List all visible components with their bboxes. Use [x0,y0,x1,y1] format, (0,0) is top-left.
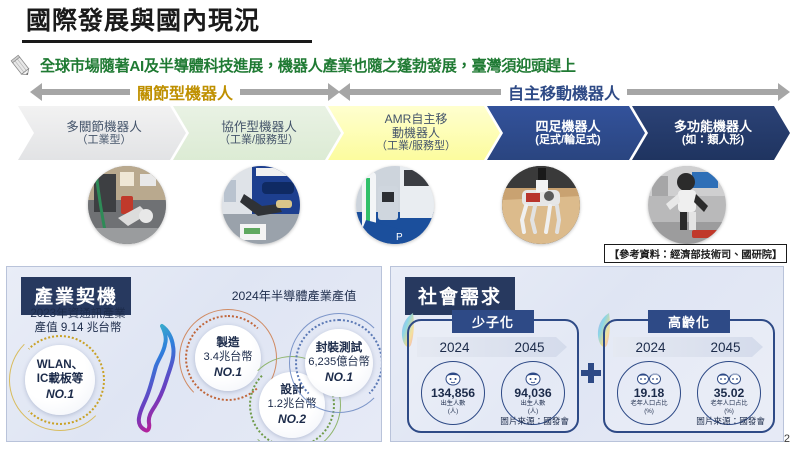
band-label-autonomous: 自主移動機器人 [501,80,627,104]
circle-manufacturing-rank: NO.1 [214,365,242,380]
metric-unit: (人) [448,408,458,415]
circle-packaging-name: 封裝測試 [316,341,362,355]
baby-icon [443,371,463,386]
svg-text:P: P [396,232,403,243]
year-label: 2024 [439,340,469,355]
circle-manufacturing-name: 製造 [216,336,239,350]
metric-value: 94,036 [514,386,551,400]
band-bar [350,89,501,95]
source-note-birthrate: 圖片來源：國發會 [500,415,569,427]
section-declining-birthrate: 少子化 2024 2045 134,856 出生人數 (人) [407,319,579,433]
category-label: 多關節機器人 [66,120,142,134]
metric-label: 出生人數 [441,400,466,407]
category-articulated-robot[interactable]: 多關節機器人 （工業型） [18,106,186,160]
semiconductor-caption: 2024年半導體產業產值 [199,289,382,304]
year-label: 2045 [710,340,740,355]
circle-packaging-rank: NO.1 [325,370,353,385]
panel-industry-opportunity: 產業契機 2023年資通訊產業 產值 9.14 兆台幣 2024年半導體產業產值 [6,266,382,442]
year-label: 2024 [635,340,665,355]
category-collaborative-robot[interactable]: 協作型機器人 （工業/服務型） [173,106,341,160]
plus-icon [581,363,601,383]
elderly-couple-icon [716,371,742,386]
category-sublabel: （工業型） [77,134,132,146]
metric-aging-2024: 19.18 老年人口占比 (%) [617,361,681,425]
pencil-icon [8,53,36,77]
humanoid-robot-photo [648,166,726,244]
section-aging-population: 高齡化 2024 2045 19.18 老年人口占比 (%) [603,319,775,433]
circle-manufacturing-value: 3.4兆台幣 [203,350,252,364]
circle-packaging-value: 6,235億台幣 [308,355,370,369]
elderly-couple-icon [636,371,662,386]
collaborative-robot-photo [222,166,300,244]
slide-root: 國際發展與國內現況 全球市場隨著AI及半導體科技進展，機器人產業也隨之蓬勃發展，… [0,0,800,449]
category-label: 協作型機器人 [221,120,297,134]
category-sublabel: (足式/輪足式) [535,134,600,146]
source-note-aging: 圖片來源：國發會 [696,415,765,427]
page-title: 國際發展與國內現況 [26,6,260,37]
metric-unit: (%) [724,408,734,415]
arrow-right-icon [778,83,790,101]
panel-social-need: 社會需求 少子化 2024 [390,266,784,442]
band-bar [240,89,328,95]
circle-packaging-test: 封裝測試 6,235億台幣 NO.1 [305,329,373,397]
category-label: 多功能機器人 [674,120,752,135]
metric-label: 老年人口占比 [710,400,747,407]
arrow-left-icon [338,83,350,101]
circle-wlan: WLAN、 IC載板等 NO.1 [25,345,95,415]
metric-birth-2024: 134,856 出生人數 (人) [421,361,485,425]
year-bar-birthrate: 2024 2045 [417,337,567,357]
band-bar [42,89,130,95]
subtitle-text: 全球市場隨著AI及半導體科技進展，機器人產業也隨之蓬勃發展，臺灣須迎頭趕上 [40,54,576,76]
section-title-aging: 高齡化 [648,310,730,333]
category-multifunction-robot[interactable]: 多功能機器人 (如：類人形) [632,106,790,160]
band-autonomous: 自主移動機器人 [338,80,790,104]
category-sublabel: （工業/服務型） [219,134,299,146]
arrow-left-icon [30,83,42,101]
category-amr-robot[interactable]: AMR自主移 動機器人 （工業/服務型） [328,106,500,160]
title-underline [22,40,312,43]
metric-value: 19.18 [634,386,665,400]
amr-robot-photo: P [356,166,434,244]
band-label-articulated: 關節型機器人 [130,80,240,104]
metric-label: 老年人口占比 [630,400,667,407]
category-sublabel: (如：類人形) [682,134,744,146]
reference-note: 【參考資料：經濟部技術司、國研院】 [604,244,787,263]
circle-design-rank: NO.2 [278,412,306,427]
band-articulated: 關節型機器人 [30,80,340,104]
category-sublabel: （工業/服務型） [376,140,456,152]
metric-label: 出生人數 [521,400,546,407]
category-chevron-row: 多關節機器人 （工業型） 協作型機器人 （工業/服務型） AMR自主移 動機器人… [18,106,788,160]
year-bar-aging: 2024 2045 [613,337,763,357]
quadruped-robot-photo [502,166,580,244]
baby-icon [523,371,543,386]
category-label: 四足機器人 [535,120,600,135]
year-label: 2045 [514,340,544,355]
articulated-robot-photo [88,166,166,244]
band-bar [627,89,778,95]
circle-wlan-name: WLAN、 IC載板等 [37,358,83,387]
section-title-birthrate: 少子化 [452,310,534,333]
category-label: AMR自主移 動機器人 [385,113,448,140]
circle-wlan-rank: NO.1 [46,387,74,402]
subtitle-row: 全球市場隨著AI及半導體科技進展，機器人產業也隨之蓬勃發展，臺灣須迎頭趕上 [8,52,792,78]
metric-unit: (人) [528,408,538,415]
category-quadruped-robot[interactable]: 四足機器人 (足式/輪足式) [487,106,645,160]
metric-value: 134,856 [431,386,475,400]
slide-number: 2 [784,433,790,445]
metric-value: 35.02 [714,386,745,400]
metric-unit: (%) [644,408,654,415]
